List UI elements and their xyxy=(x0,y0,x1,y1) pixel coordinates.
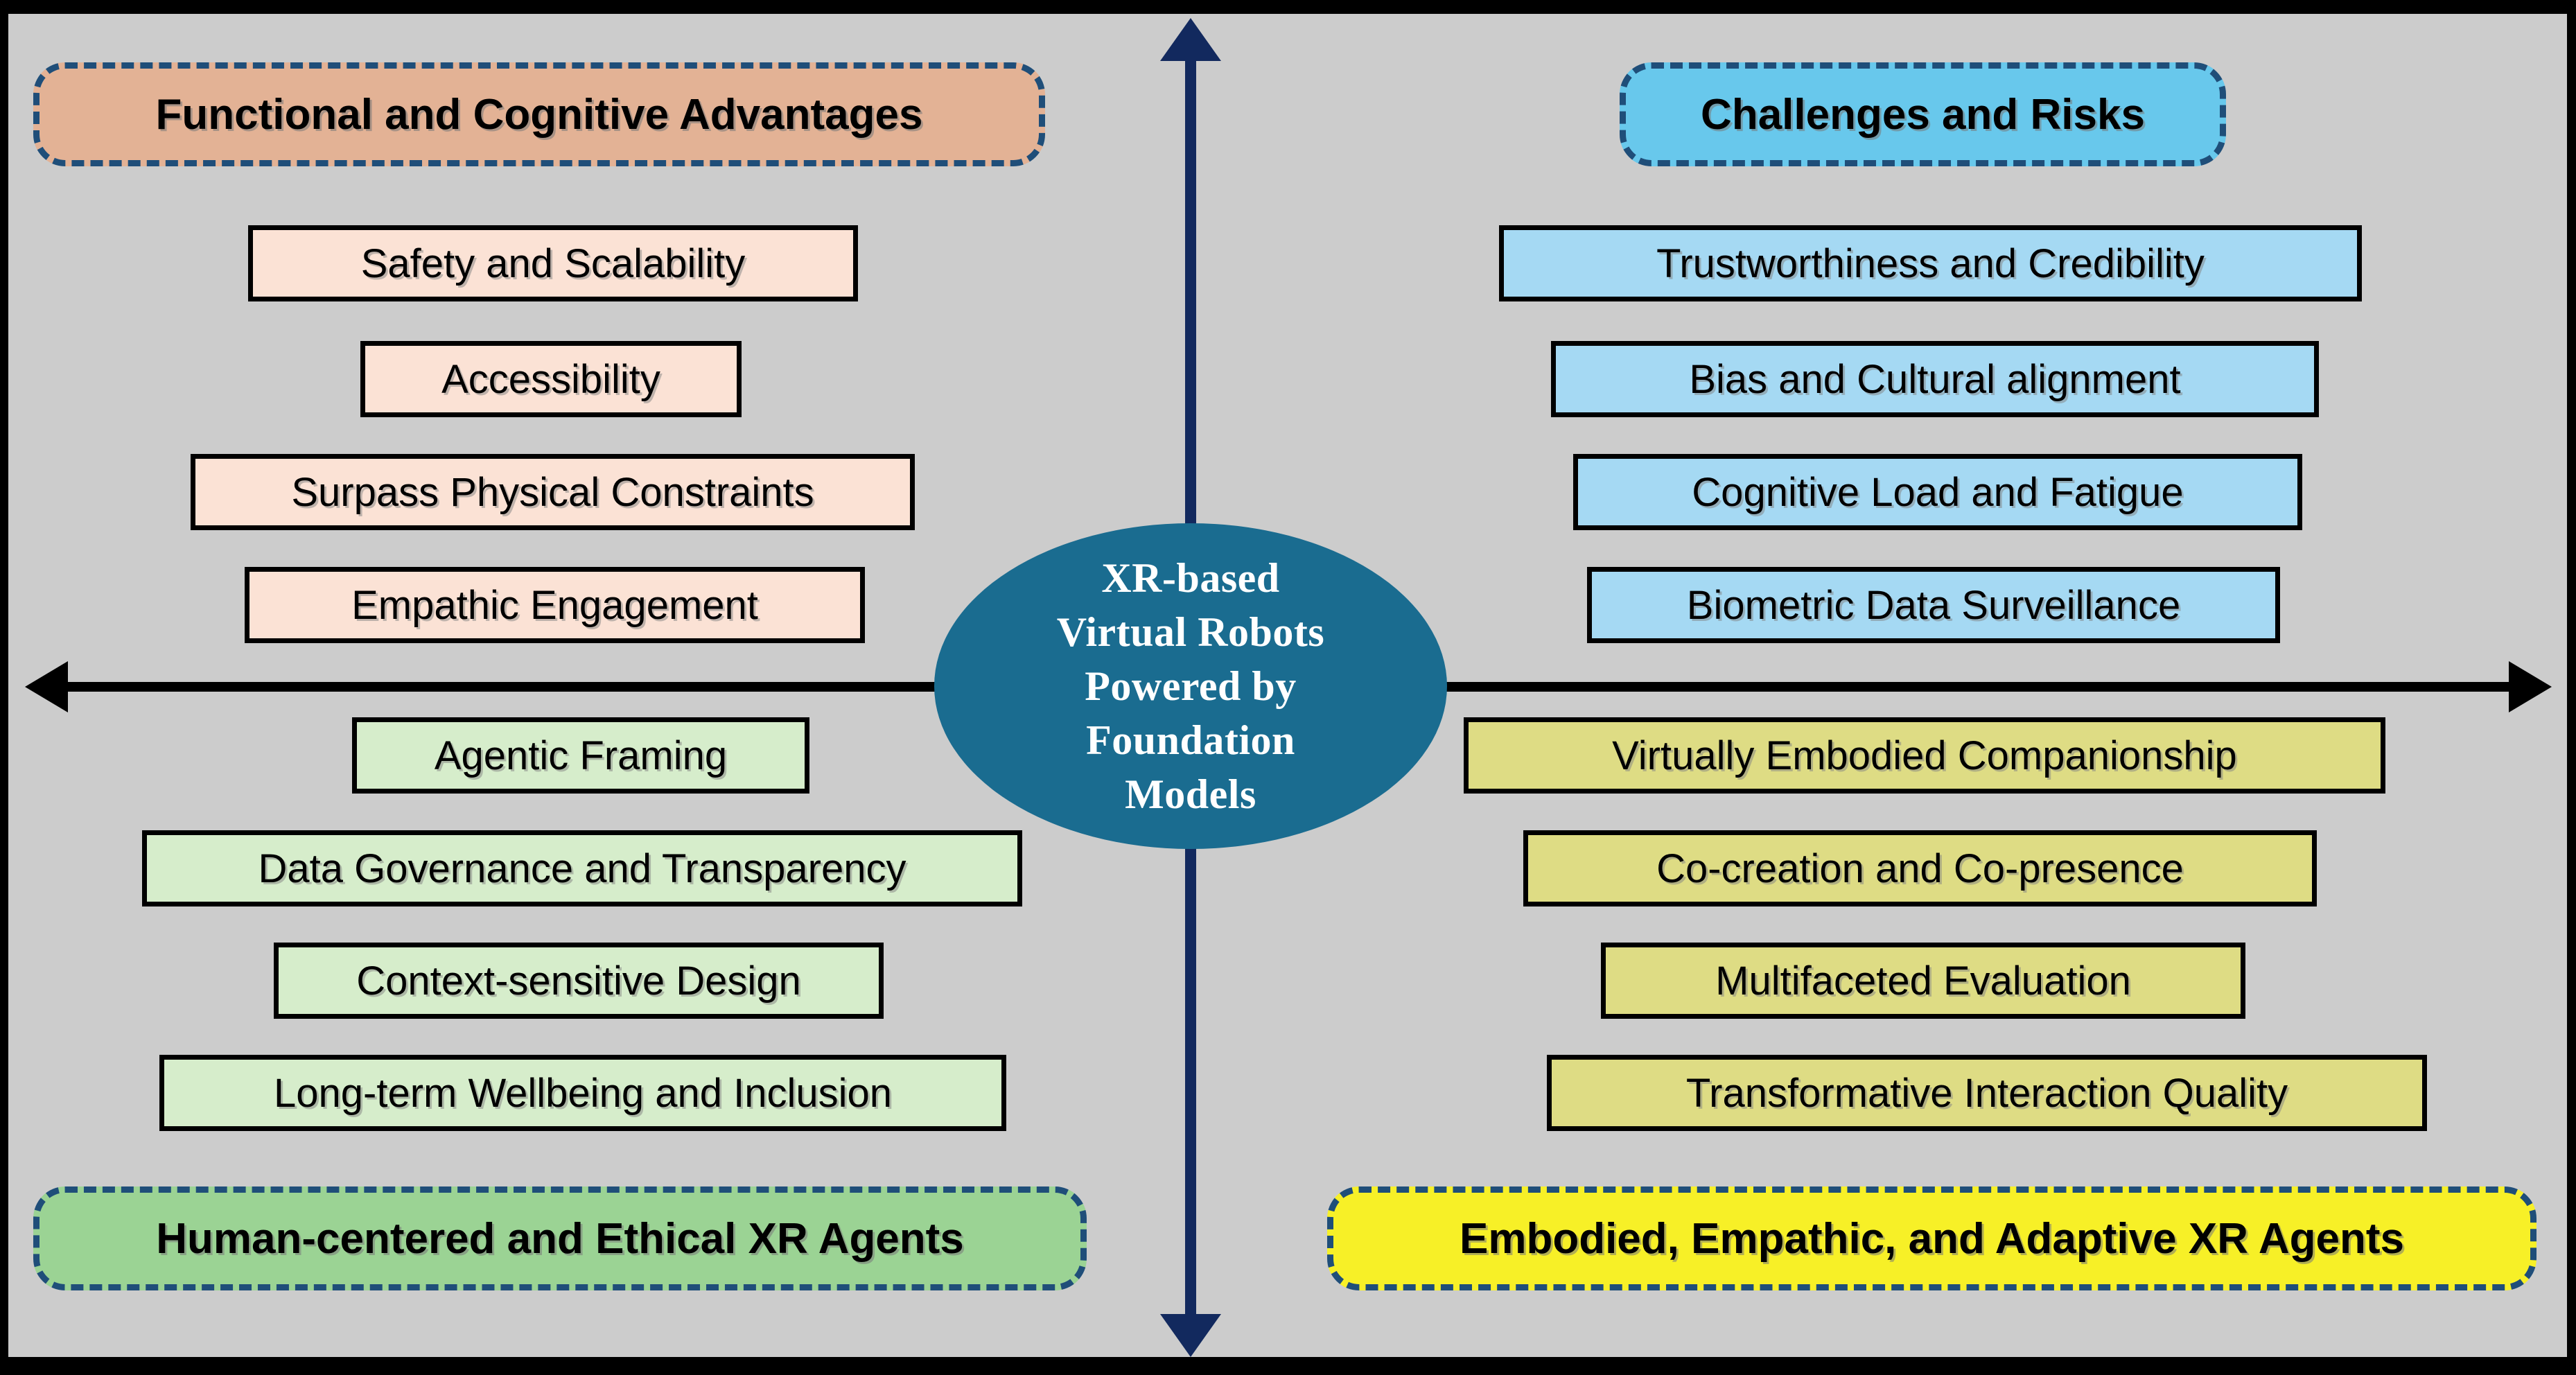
banner-label: Functional and Cognitive Advantages xyxy=(156,90,923,139)
node-long-term-wellbeing-and-inclusion[interactable]: Long-term Wellbeing and Inclusion xyxy=(159,1055,1006,1131)
node-label: Trustworthiness and Credibility xyxy=(1656,240,2205,287)
node-label: Virtually Embodied Companionship xyxy=(1612,733,2237,779)
banner-human-centered-and-ethical-xr-agents[interactable]: Human-centered and Ethical XR Agents xyxy=(33,1186,1087,1290)
node-trustworthiness-and-credibility[interactable]: Trustworthiness and Credibility xyxy=(1499,225,2362,301)
banner-label: Human-centered and Ethical XR Agents xyxy=(156,1214,964,1263)
center-hub-ellipse[interactable]: XR-based Virtual Robots Powered by Found… xyxy=(934,523,1447,849)
hub-line-1: XR-based xyxy=(1101,555,1279,601)
node-context-sensitive-design[interactable]: Context-sensitive Design xyxy=(274,943,884,1019)
node-accessibility[interactable]: Accessibility xyxy=(360,341,742,417)
node-label: Biometric Data Surveillance xyxy=(1687,582,2180,629)
node-virtually-embodied-companionship[interactable]: Virtually Embodied Companionship xyxy=(1464,717,2385,794)
center-hub-label: XR-based Virtual Robots Powered by Found… xyxy=(1057,551,1324,821)
banner-challenges-and-risks[interactable]: Challenges and Risks xyxy=(1620,62,2226,166)
node-label: Safety and Scalability xyxy=(361,240,746,287)
node-label: Bias and Cultural alignment xyxy=(1689,356,2180,403)
node-transformative-interaction-quality[interactable]: Transformative Interaction Quality xyxy=(1547,1055,2427,1131)
node-label: Data Governance and Transparency xyxy=(259,846,906,892)
node-safety-and-scalability[interactable]: Safety and Scalability xyxy=(248,225,858,301)
arrow-head-left xyxy=(25,661,68,712)
node-label: Long-term Wellbeing and Inclusion xyxy=(274,1070,892,1116)
banner-label: Embodied, Empathic, and Adaptive XR Agen… xyxy=(1460,1214,2404,1263)
node-label: Agentic Framing xyxy=(435,733,727,779)
node-agentic-framing[interactable]: Agentic Framing xyxy=(352,717,809,794)
node-label: Multifaceted Evaluation xyxy=(1715,958,2131,1004)
hub-line-3: Powered by xyxy=(1085,663,1297,709)
node-label: Cognitive Load and Fatigue xyxy=(1692,469,2183,516)
node-label: Co-creation and Co-presence xyxy=(1656,846,2184,892)
arrow-head-right xyxy=(2509,661,2552,712)
banner-embodied-empathic-and-adaptive-xr-agents[interactable]: Embodied, Empathic, and Adaptive XR Agen… xyxy=(1327,1186,2536,1290)
hub-line-4: Foundation xyxy=(1086,717,1295,763)
node-label: Surpass Physical Constraints xyxy=(291,469,814,516)
node-label: Accessibility xyxy=(441,356,660,403)
arrow-head-up xyxy=(1160,18,1221,61)
banner-functional-and-cognitive-advantages[interactable]: Functional and Cognitive Advantages xyxy=(33,62,1045,166)
node-label: Empathic Engagement xyxy=(351,582,758,629)
node-cognitive-load-and-fatigue[interactable]: Cognitive Load and Fatigue xyxy=(1573,454,2302,530)
hub-line-5: Models xyxy=(1125,771,1256,817)
banner-label: Challenges and Risks xyxy=(1701,90,2145,139)
node-bias-and-cultural-alignment[interactable]: Bias and Cultural alignment xyxy=(1551,341,2319,417)
diagram-canvas: Functional and Cognitive Advantages Safe… xyxy=(0,0,2576,1375)
node-label: Context-sensitive Design xyxy=(356,958,801,1004)
node-data-governance-and-transparency[interactable]: Data Governance and Transparency xyxy=(142,830,1022,907)
node-label: Transformative Interaction Quality xyxy=(1686,1070,2288,1116)
node-multifaceted-evaluation[interactable]: Multifaceted Evaluation xyxy=(1601,943,2245,1019)
node-co-creation-and-co-presence[interactable]: Co-creation and Co-presence xyxy=(1523,830,2317,907)
node-surpass-physical-constraints[interactable]: Surpass Physical Constraints xyxy=(191,454,915,530)
node-biometric-data-surveillance[interactable]: Biometric Data Surveillance xyxy=(1587,567,2280,643)
arrow-head-down xyxy=(1160,1314,1221,1357)
hub-line-2: Virtual Robots xyxy=(1057,609,1324,655)
node-empathic-engagement[interactable]: Empathic Engagement xyxy=(245,567,865,643)
